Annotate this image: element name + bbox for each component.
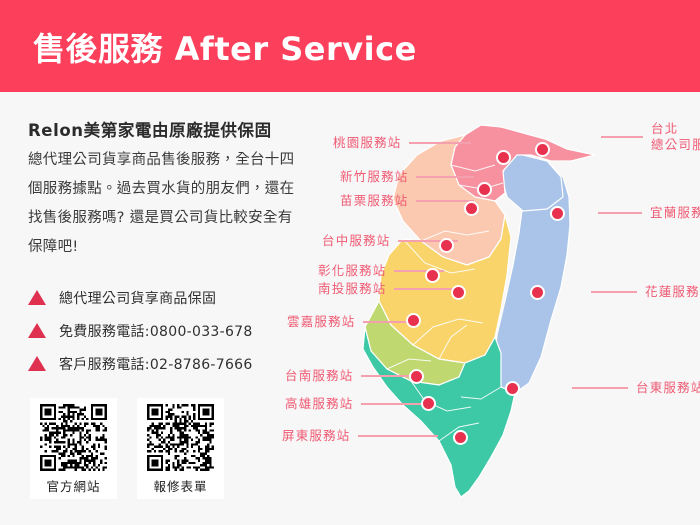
callout-label: 桃園服務站 <box>333 135 402 151</box>
map-callout-miaoli[interactable]: 苗栗服務站 <box>340 193 474 209</box>
map-callout-pingtung[interactable]: 屏東服務站 <box>282 428 438 444</box>
bullet-label: 免費服務電話:0800-033-678 <box>59 321 253 341</box>
map-callout-hsinchu[interactable]: 新竹服務站 <box>340 169 474 185</box>
callout-leader-line <box>361 403 427 405</box>
map-pin-yilan[interactable] <box>550 206 565 221</box>
map-callout-kaohsiung[interactable]: 高雄服務站 <box>285 396 427 412</box>
map-pin-hualien[interactable] <box>530 285 545 300</box>
callout-label: 新竹服務站 <box>340 169 409 185</box>
taiwan-map-svg <box>355 105 620 505</box>
callout-leader-line <box>394 288 456 290</box>
qr-code-group: 官方網站 報修表單 <box>30 398 224 499</box>
triangle-bullet-icon <box>28 323 46 338</box>
map-callout-hualien[interactable]: 花蓮服務站 <box>591 284 700 300</box>
header-banner: 售後服務 After Service <box>0 0 700 92</box>
qr-label: 官方網站 <box>46 476 100 495</box>
callout-leader-line <box>358 435 438 437</box>
callout-label: 台東服務站 <box>636 380 700 396</box>
list-item: 客戶服務電話:02-8786-7666 <box>28 347 318 380</box>
page-title: 售後服務 After Service <box>33 24 417 70</box>
map-pin-kaohsiung[interactable] <box>421 396 436 411</box>
callout-label: 宜蘭服務站 <box>650 205 700 221</box>
callout-label: 台北總公司服務站 <box>651 121 700 153</box>
callout-leader-line <box>416 200 474 202</box>
callout-leader-line <box>409 142 471 144</box>
callout-label: 高雄服務站 <box>285 396 354 412</box>
bullet-list: 總代理公司貨享商品保固 免費服務電話:0800-033-678 客戶服務電話:0… <box>28 281 318 380</box>
qr-official-website[interactable]: 官方網站 <box>30 398 117 499</box>
map-pin-taipei[interactable] <box>535 142 550 157</box>
qr-code-image <box>40 404 107 471</box>
callout-leader-line <box>601 136 643 138</box>
triangle-bullet-icon <box>28 356 46 371</box>
bullet-label: 客戶服務電話:02-8786-7666 <box>59 354 253 374</box>
map-pin-yunchia[interactable] <box>406 313 421 328</box>
body-paragraph: 總代理公司貨享商品售後服務，全台十四個服務據點。過去買水貨的朋友們，還在找售後服… <box>28 146 298 262</box>
callout-label: 雲嘉服務站 <box>287 314 356 330</box>
list-item: 總代理公司貨享商品保固 <box>28 281 318 314</box>
map-callout-taitung[interactable]: 台東服務站 <box>572 380 700 396</box>
lead-heading: Relon美第家電由原廠提供保固 <box>28 117 328 141</box>
map-callout-taipei[interactable]: 台北總公司服務站 <box>601 121 700 153</box>
map-pin-tainan[interactable] <box>409 369 424 384</box>
map-pin-hsinchu[interactable] <box>477 182 492 197</box>
map-pin-taoyuan[interactable] <box>496 150 511 165</box>
callout-leader-line <box>598 212 642 214</box>
map-pin-miaoli[interactable] <box>464 201 479 216</box>
callout-label: 台南服務站 <box>285 368 354 384</box>
callout-label: 苗栗服務站 <box>340 193 409 209</box>
map-callout-tainan[interactable]: 台南服務站 <box>285 368 423 384</box>
map-pin-pingtung[interactable] <box>453 430 468 445</box>
map-callout-nantou[interactable]: 南投服務站 <box>318 281 456 297</box>
qr-label: 報修表單 <box>153 476 207 495</box>
after-service-infographic: 售後服務 After Service Relon美第家電由原廠提供保固 總代理公… <box>0 0 700 525</box>
callout-label: 台中服務站 <box>322 233 391 249</box>
qr-code-image <box>147 404 214 471</box>
map-pin-taichung[interactable] <box>439 238 454 253</box>
qr-repair-form[interactable]: 報修表單 <box>137 398 224 499</box>
callout-label: 南投服務站 <box>318 281 387 297</box>
callout-leader-line <box>363 321 413 323</box>
triangle-bullet-icon <box>28 290 46 305</box>
callout-leader-line <box>591 291 637 293</box>
bullet-label: 總代理公司貨享商品保固 <box>59 288 216 308</box>
map-callout-yunchia[interactable]: 雲嘉服務站 <box>287 314 413 330</box>
callout-leader-line <box>416 176 474 178</box>
callout-label: 屏東服務站 <box>282 428 351 444</box>
map-callout-taichung[interactable]: 台中服務站 <box>322 233 458 249</box>
taiwan-map <box>355 105 620 505</box>
map-callout-taoyuan[interactable]: 桃園服務站 <box>333 135 471 151</box>
list-item: 免費服務電話:0800-033-678 <box>28 314 318 347</box>
map-pin-nantou[interactable] <box>451 285 466 300</box>
map-callout-yilan[interactable]: 宜蘭服務站 <box>598 205 700 221</box>
map-pin-taitung[interactable] <box>505 381 520 396</box>
callout-label: 彰化服務站 <box>318 263 387 279</box>
callout-label: 花蓮服務站 <box>645 284 700 300</box>
callout-leader-line <box>572 387 628 389</box>
